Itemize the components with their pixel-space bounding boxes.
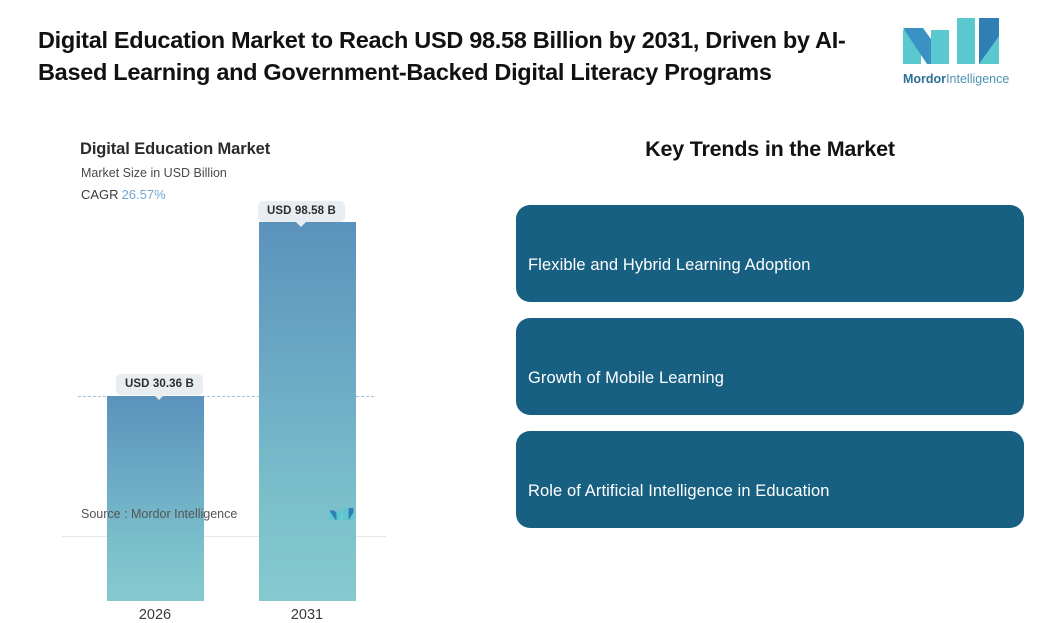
trend-card-3[interactable]: Role of Artificial Intelligence in Educa…: [516, 431, 1024, 528]
brand-wordmark: MordorIntelligence: [903, 72, 1007, 86]
chart-source-row: Source : Mordor Intelligence: [81, 505, 371, 527]
bar-chart-plot-area: USD 30.36 B USD 98.58 B 2026 2031: [62, 132, 386, 537]
mordor-intelligence-logo: MordorIntelligence: [901, 16, 1011, 94]
trend-card-2[interactable]: Growth of Mobile Learning: [516, 318, 1024, 415]
brand-name-bold: Mordor: [903, 72, 946, 86]
mordor-logo-small-icon: [329, 505, 355, 523]
brand-name-light: Intelligence: [946, 72, 1009, 86]
bar-value-label-2031: USD 98.58 B: [258, 201, 345, 222]
trend-card-2-label: Growth of Mobile Learning: [528, 369, 724, 388]
key-trends-heading: Key Trends in the Market: [516, 137, 1024, 162]
page-header: Digital Education Market to Reach USD 98…: [0, 0, 1054, 112]
trend-card-1-label: Flexible and Hybrid Learning Adoption: [528, 256, 811, 275]
trend-card-1[interactable]: Flexible and Hybrid Learning Adoption: [516, 205, 1024, 302]
chart-source-label: Source : Mordor Intelligence: [81, 507, 237, 521]
x-axis-tick-2031: 2031: [247, 607, 367, 623]
trend-card-3-label: Role of Artificial Intelligence in Educa…: [528, 482, 830, 501]
bar-value-label-2026: USD 30.36 B: [116, 374, 203, 395]
mordor-logo-mark-icon: [901, 16, 1005, 66]
bar-2026[interactable]: [107, 396, 204, 601]
key-trends-panel: Key Trends in the Market Flexible and Hy…: [516, 137, 1024, 537]
chart-card: Digital Education Market Market Size in …: [62, 132, 386, 537]
x-axis-tick-2026: 2026: [95, 607, 215, 623]
page-title: Digital Education Market to Reach USD 98…: [38, 24, 893, 88]
bar-2031[interactable]: [259, 222, 356, 601]
